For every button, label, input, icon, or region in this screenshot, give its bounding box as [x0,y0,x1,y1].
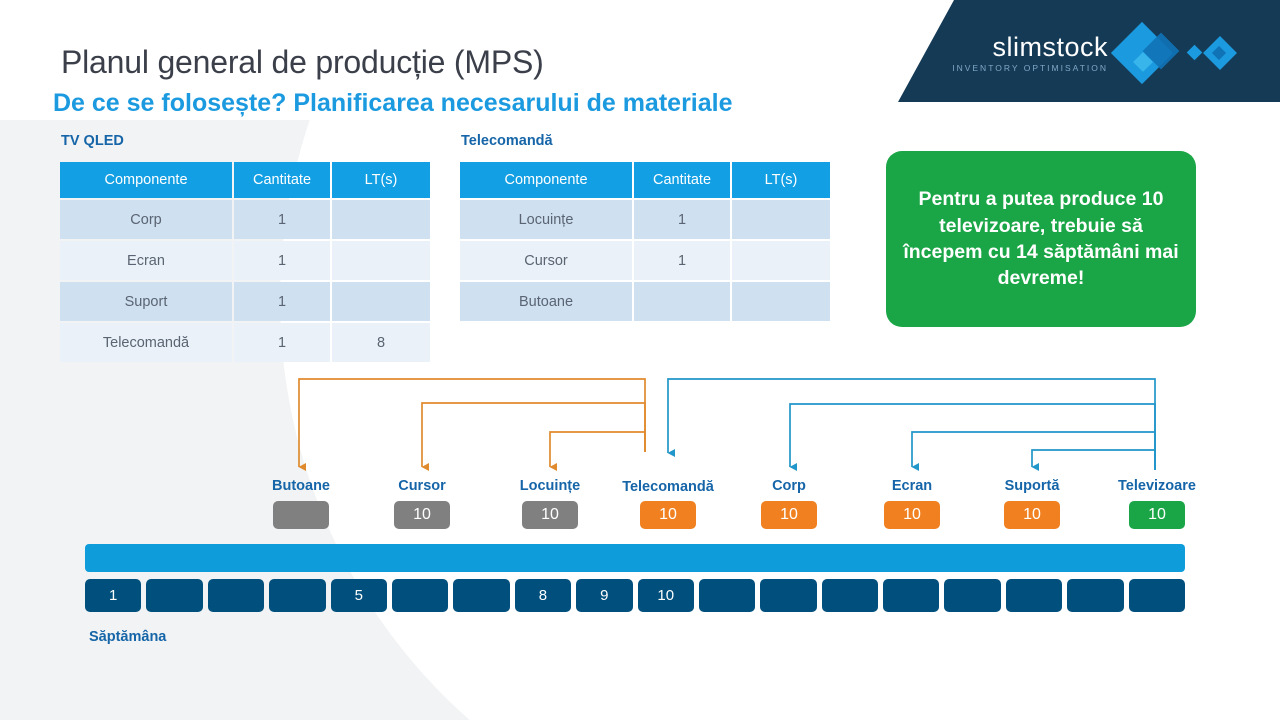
node-value-box: 10 [1004,501,1060,529]
table-row: Telecomandă 1 8 [60,323,430,362]
cell-quantity: 1 [234,323,330,362]
week-cell: 5 [331,579,387,612]
week-cell: 1 [85,579,141,612]
node-suporta: Suportă 10 [972,461,1092,529]
cell-quantity: 1 [234,241,330,280]
week-cell [208,579,264,612]
node-cursor: Cursor 10 [362,461,482,529]
cell-quantity [634,282,730,321]
cell-component: Butoane [460,282,632,321]
cell-component: Suport [60,282,232,321]
week-cell [1067,579,1123,612]
column-header-lt: LT(s) [732,162,830,198]
node-value-box: 10 [1129,501,1185,529]
bom-table-telecomanda: Componente Cantitate LT(s) Locuințe 1 Cu… [458,160,832,323]
timeline-weeks: 158910 [85,579,1185,612]
cell-component: Cursor [460,241,632,280]
table-row: Ecran 1 [60,241,430,280]
node-value-box: 10 [884,501,940,529]
node-label: Corp [729,461,849,495]
node-telecomanda: Telecomandă 10 [608,450,728,529]
cell-component: Locuințe [460,200,632,239]
cell-quantity: 1 [634,200,730,239]
week-cell [146,579,202,612]
timeline-bar [85,544,1185,572]
cell-leadtime [332,282,430,321]
node-label: Butoane [241,461,361,495]
node-label: Suportă [972,461,1092,495]
table-row: Locuințe 1 [460,200,830,239]
node-label: Telecomandă [608,450,728,495]
cell-component: Corp [60,200,232,239]
column-header-cantitate: Cantitate [234,162,330,198]
cell-leadtime [732,241,830,280]
table-caption-telecomanda: Telecomandă [461,133,553,149]
week-cell: 10 [638,579,694,612]
week-cell [822,579,878,612]
brand-logo: slimstock INVENTORY OPTIMISATION [952,22,1258,84]
week-cell [944,579,1000,612]
cell-leadtime [332,200,430,239]
table-row: Corp 1 [60,200,430,239]
week-cell [1129,579,1185,612]
brand-tagline: INVENTORY OPTIMISATION [952,64,1108,73]
node-label: Locuințe [490,461,610,495]
page-title: Planul general de producție (MPS) [61,44,544,81]
column-header-lt: LT(s) [332,162,430,198]
week-cell [760,579,816,612]
node-value-box: 10 [394,501,450,529]
timeline-axis-label: Săptămâna [89,629,166,645]
node-value-box: 10 [522,501,578,529]
week-cell [1006,579,1062,612]
cell-quantity: 1 [634,241,730,280]
bom-table-tv-qled: Componente Cantitate LT(s) Corp 1 Ecran … [58,160,432,364]
column-header-cantitate: Cantitate [634,162,730,198]
page-subtitle: De ce se folosește? Planificarea necesar… [53,89,733,118]
table-caption-tv-qled: TV QLED [61,133,124,149]
cell-component: Telecomandă [60,323,232,362]
table-header-row: Componente Cantitate LT(s) [460,162,830,198]
node-butoane: Butoane [241,461,361,529]
brand-name: slimstock [952,34,1108,61]
week-cell: 9 [576,579,632,612]
week-cell [392,579,448,612]
week-cell: 8 [515,579,571,612]
cell-quantity: 1 [234,200,330,239]
cell-leadtime [332,241,430,280]
node-ecran: Ecran 10 [852,461,972,529]
column-header-componente: Componente [460,162,632,198]
node-value-box: 10 [761,501,817,529]
node-corp: Corp 10 [729,461,849,529]
node-televizoare: Televizoare 10 [1097,461,1217,529]
slide-canvas: slimstock INVENTORY OPTIMISATION Planul … [0,0,1280,720]
cell-leadtime [732,282,830,321]
table-row: Suport 1 [60,282,430,321]
week-cell [453,579,509,612]
week-cell [699,579,755,612]
column-header-componente: Componente [60,162,232,198]
node-label: Ecran [852,461,972,495]
node-label: Cursor [362,461,482,495]
table-row: Butoane [460,282,830,321]
brand-diamond-icon [1118,22,1258,84]
node-value-box: 10 [640,501,696,529]
cell-component: Ecran [60,241,232,280]
callout-box: Pentru a putea produce 10 televizoare, t… [886,151,1196,327]
cell-leadtime [732,200,830,239]
cell-leadtime: 8 [332,323,430,362]
node-value-box [273,501,329,529]
week-cell [883,579,939,612]
table-row: Cursor 1 [460,241,830,280]
table-header-row: Componente Cantitate LT(s) [60,162,430,198]
cell-quantity: 1 [234,282,330,321]
node-label: Televizoare [1097,461,1217,495]
node-locuinte: Locuințe 10 [490,461,610,529]
week-cell [269,579,325,612]
